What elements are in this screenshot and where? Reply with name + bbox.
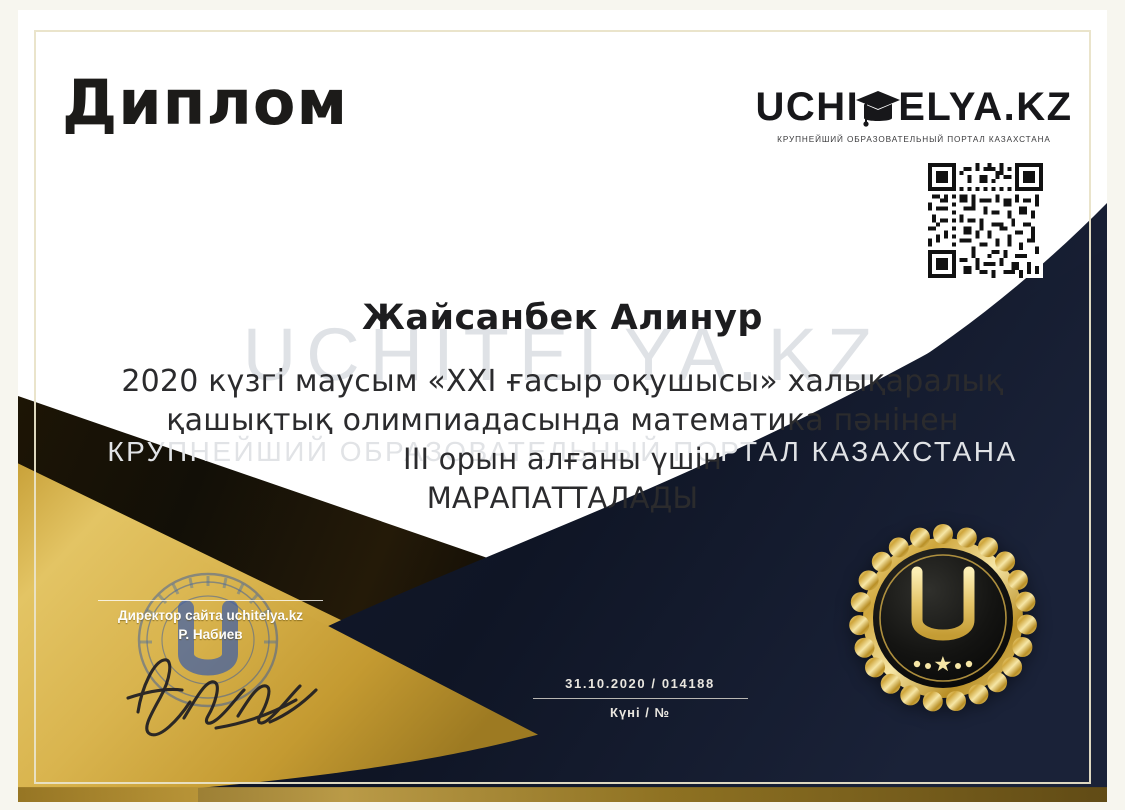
handwritten-signature	[120, 640, 330, 750]
qr-code	[928, 163, 1043, 278]
award-line-3: III орын алғаны үшін	[90, 440, 1035, 479]
graduation-cap-glyph	[855, 88, 901, 128]
brand-logo-part2: ELYA.KZ	[898, 87, 1072, 127]
signatory-name: Р. Набиев	[88, 625, 333, 644]
brand-logo: UCHI ELYA.KZ КРУПНЕЙШИЙ ОБРАЗОВАТЕЛЬНЫЙ …	[749, 86, 1079, 144]
brand-logo-wordmark: UCHI ELYA.KZ	[749, 86, 1079, 128]
medal-glyph	[849, 524, 1037, 712]
certificate-document: UCHITELYA.KZ КРУПНЕЙШИЙ ОБРАЗОВАТЕЛЬНЫЙ …	[0, 0, 1125, 810]
brand-tagline: КРУПНЕЙШИЙ ОБРАЗОВАТЕЛЬНЫЙ ПОРТАЛ КАЗАХС…	[749, 135, 1079, 144]
award-line-1: 2020 күзгі маусым «XXI ғасыр оқушысы» ха…	[90, 362, 1035, 401]
signature-glyph	[120, 640, 330, 750]
document-title: Диплом	[62, 66, 348, 139]
issue-label: Күні / №	[520, 705, 760, 720]
qr-code-glyph	[928, 163, 1043, 278]
issue-rule	[533, 698, 748, 699]
signature-caption: Директор сайта uchitelya.kz Р. Набиев	[88, 600, 333, 644]
issue-date-number: 31.10.2020 / 014188	[520, 676, 760, 691]
recipient-name: Жайсанбек Алинур	[0, 298, 1125, 338]
gold-medal-emblem	[849, 524, 1037, 712]
award-line-4: МАРАПАТТАЛАДЫ	[90, 479, 1035, 518]
graduation-cap-icon	[855, 86, 901, 128]
issue-info: 31.10.2020 / 014188 Күні / №	[520, 676, 760, 720]
award-line-2: қашықтық олимпиадасында математика пәнін…	[90, 401, 1035, 440]
signature-rule	[98, 600, 323, 601]
brand-logo-part1: UCHI	[755, 87, 859, 127]
award-body-text: 2020 күзгі маусым «XXI ғасыр оқушысы» ха…	[90, 362, 1035, 518]
signatory-role: Директор сайта uchitelya.kz	[88, 606, 333, 625]
